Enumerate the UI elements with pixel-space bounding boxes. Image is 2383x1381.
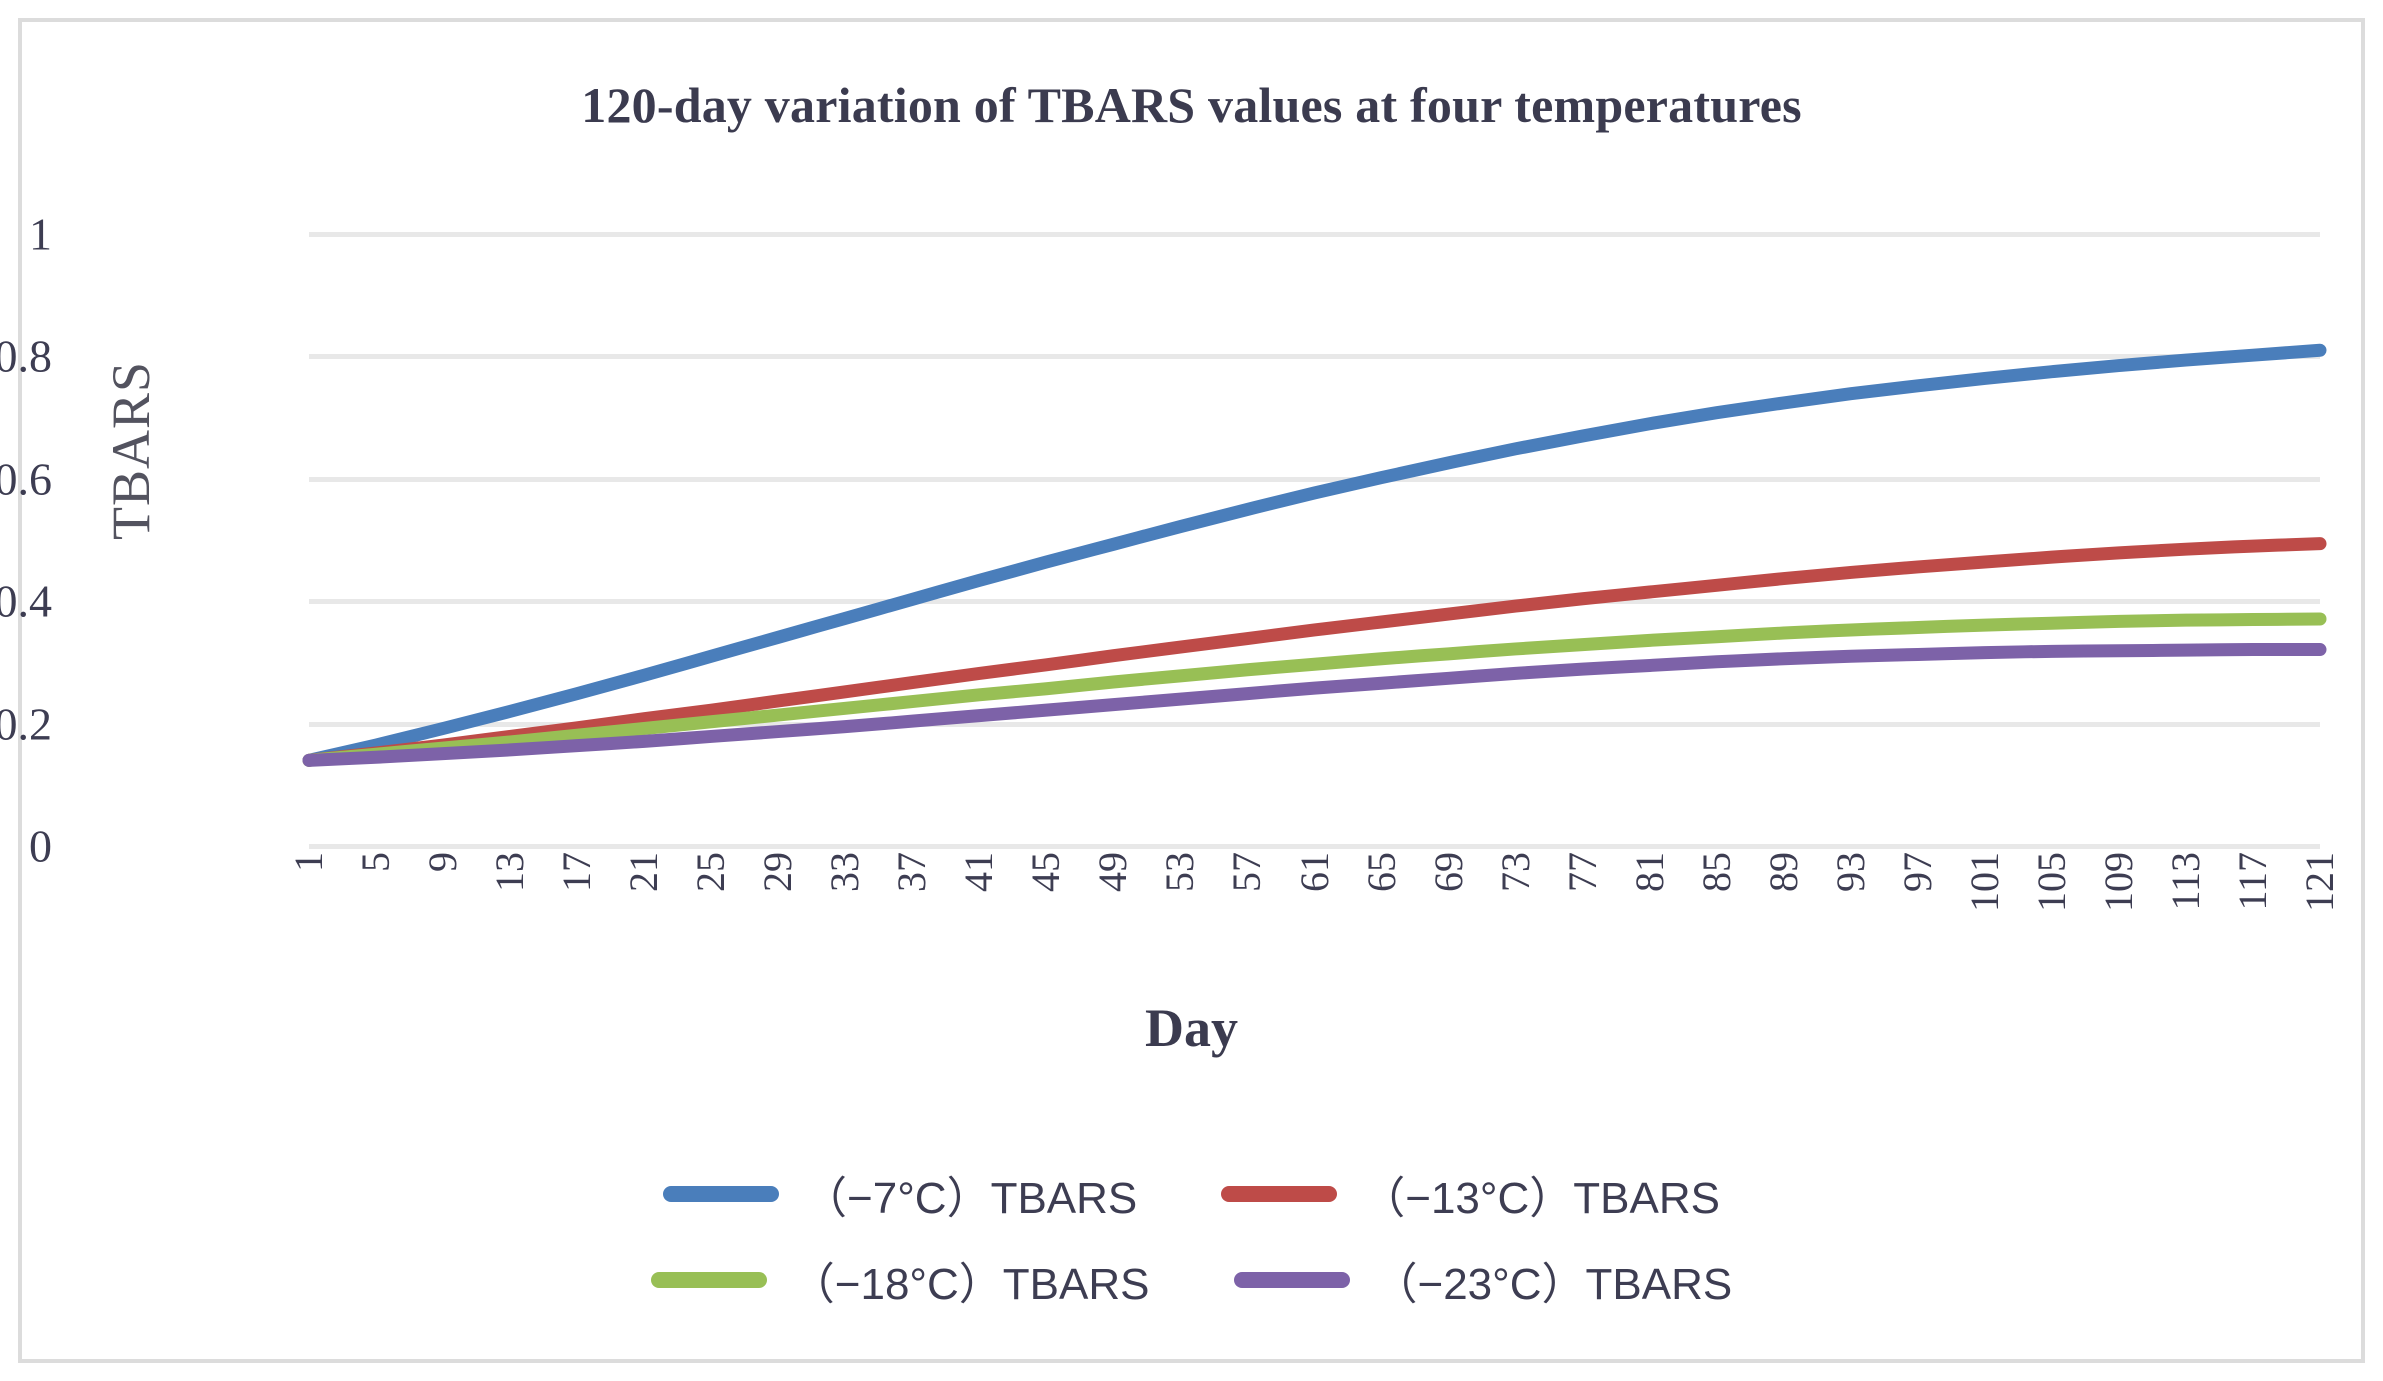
y-axis-label: TBARS	[100, 361, 162, 540]
x-axis-tick-label: 97	[1898, 852, 1938, 892]
x-axis-tick-label: 9	[423, 852, 463, 872]
chart-title: 120-day variation of TBARS values at fou…	[22, 76, 2361, 134]
legend-item-minus23[interactable]: （−23°C）TBARS	[1234, 1248, 1733, 1312]
y-axis-tick-label: 0.6	[0, 452, 52, 505]
x-axis-tick-label: 101	[1965, 852, 2005, 912]
x-axis-tick-label: 121	[2300, 852, 2340, 912]
plot-area	[309, 234, 2320, 846]
x-axis-tick-label: 93	[1831, 852, 1871, 892]
y-axis-tick-label: 0	[0, 820, 52, 873]
legend-swatch-icon	[651, 1272, 767, 1288]
x-axis-tick-label: 33	[825, 852, 865, 892]
x-axis-tick-label: 53	[1160, 852, 1200, 892]
x-axis-tick-label: 1	[289, 852, 329, 872]
y-axis-tick-label: 1	[0, 208, 52, 261]
x-axis-tick-label: 5	[356, 852, 396, 872]
chart-legend: （−7°C）TBARS（−13°C）TBARS（−18°C）TBARS（−23°…	[22, 1162, 2361, 1312]
x-axis-tick-label: 21	[624, 852, 664, 892]
x-axis-tick-label: 65	[1362, 852, 1402, 892]
legend-row-1: （−18°C）TBARS（−23°C）TBARS	[651, 1248, 1732, 1312]
legend-label: （−18°C）TBARS	[791, 1248, 1150, 1312]
y-axis-tick-label: 0.2	[0, 697, 52, 750]
x-axis-tick-label: 37	[892, 852, 932, 892]
x-axis-tick-label: 109	[2099, 852, 2139, 912]
x-axis-tick-label: 25	[691, 852, 731, 892]
y-axis-tick-label: 0.4	[0, 575, 52, 628]
x-axis-tick-label: 29	[758, 852, 798, 892]
x-axis-tick-label: 117	[2233, 852, 2273, 911]
legend-label: （−7°C）TBARS	[803, 1162, 1137, 1226]
x-axis-tick-labels: 1591317212529333741454953576165697377818…	[309, 852, 2320, 982]
series-lines	[309, 234, 2320, 846]
legend-swatch-icon	[663, 1186, 779, 1202]
x-axis-tick-label: 17	[557, 852, 597, 892]
legend-item-minus13[interactable]: （−13°C）TBARS	[1221, 1162, 1720, 1226]
legend-row-0: （−7°C）TBARS（−13°C）TBARS	[663, 1162, 1720, 1226]
x-axis-tick-label: 13	[490, 852, 530, 892]
x-axis-tick-label: 77	[1563, 852, 1603, 892]
x-axis-tick-label: 69	[1429, 852, 1469, 892]
x-axis-tick-label: 41	[959, 852, 999, 892]
x-axis-tick-label: 49	[1093, 852, 1133, 892]
legend-label: （−23°C）TBARS	[1374, 1248, 1733, 1312]
legend-label: （−13°C）TBARS	[1361, 1162, 1720, 1226]
plot-area-wrapper	[309, 234, 2320, 846]
x-axis-tick-label: 61	[1295, 852, 1335, 892]
x-axis-tick-label: 105	[2032, 852, 2072, 912]
figure-frame: 120-day variation of TBARS values at fou…	[18, 18, 2365, 1363]
legend-item-minus7[interactable]: （−7°C）TBARS	[663, 1162, 1137, 1226]
legend-swatch-icon	[1234, 1272, 1350, 1288]
legend-item-minus18[interactable]: （−18°C）TBARS	[651, 1248, 1150, 1312]
x-axis-tick-label: 113	[2166, 852, 2206, 911]
x-axis-tick-label: 45	[1026, 852, 1066, 892]
x-axis-tick-label: 81	[1630, 852, 1670, 892]
x-axis-tick-label: 57	[1227, 852, 1267, 892]
y-axis-tick-label: 0.8	[0, 330, 52, 383]
x-axis-label: Day	[22, 997, 2361, 1059]
legend-swatch-icon	[1221, 1186, 1337, 1202]
x-axis-tick-label: 85	[1697, 852, 1737, 892]
x-axis-tick-label: 89	[1764, 852, 1804, 892]
x-axis-tick-label: 73	[1496, 852, 1536, 892]
